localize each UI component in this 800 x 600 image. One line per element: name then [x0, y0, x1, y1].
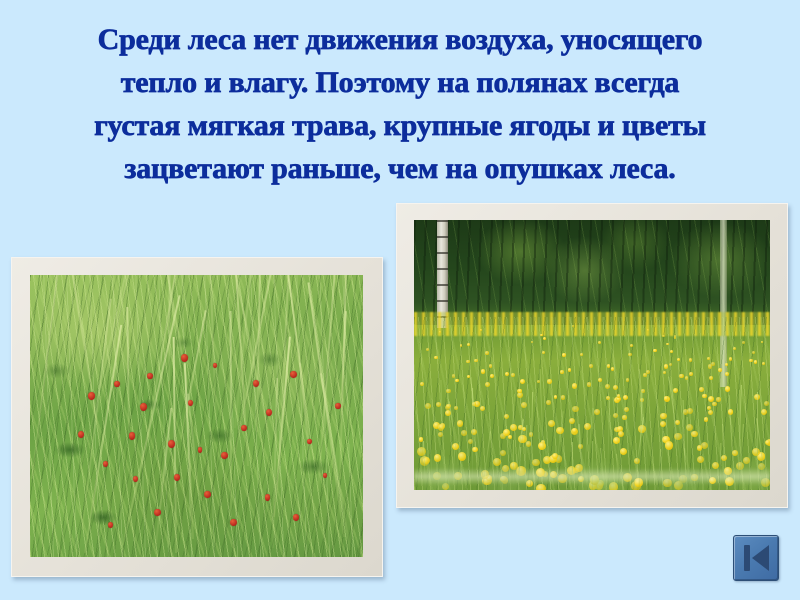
photo-image-grass: [30, 275, 363, 557]
skip-back-icon: [734, 536, 778, 580]
title-line-2: тепло и влагу. Поэтому на полянах всегда: [0, 61, 800, 104]
title-line-1: Среди леса нет движения воздуха, уносяще…: [0, 18, 800, 61]
back-button[interactable]: [733, 535, 779, 581]
title-line-4: зацветают раньше, чем на опушках леса.: [0, 147, 800, 190]
skip-back-bar: [744, 545, 750, 571]
presentation-slide: Среди леса нет движения воздуха, уносяще…: [0, 0, 800, 600]
photo-forest-meadow: [396, 203, 788, 508]
photo-image-meadow: [414, 220, 770, 490]
photo-grass-strawberries: [11, 257, 383, 577]
forest-tree-line: [414, 220, 770, 325]
page-title: Среди леса нет движения воздуха, уносяще…: [0, 18, 800, 190]
meadow-scene: [414, 220, 770, 490]
grass-scene: [30, 275, 363, 557]
tall-grass-blades: [30, 275, 363, 557]
foreground-light-strip: [414, 468, 770, 484]
title-line-3: густая мягкая трава, крупные ягоды и цве…: [0, 104, 800, 147]
skip-back-triangle: [752, 545, 769, 571]
